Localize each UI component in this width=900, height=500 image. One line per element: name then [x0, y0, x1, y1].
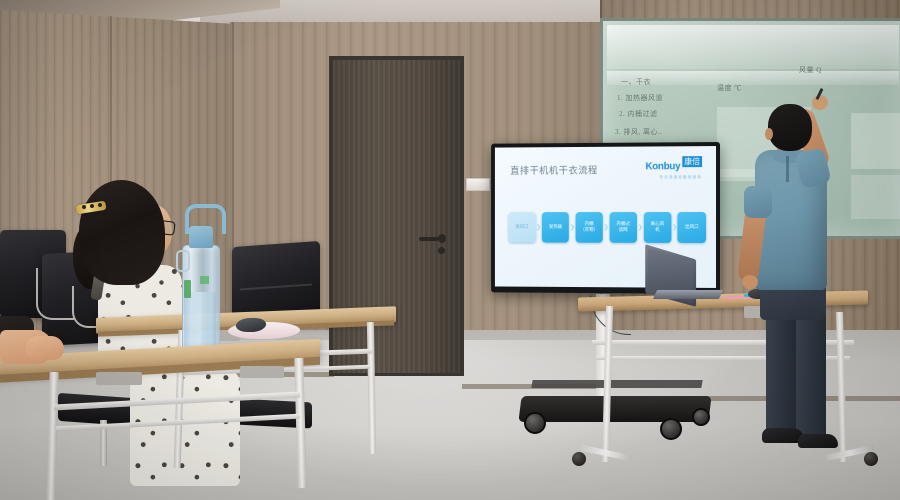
flow-arrow-icon: ❯ [536, 224, 542, 231]
slide-title: 直排干机机干衣流程 [510, 163, 598, 177]
presenter-leg [796, 312, 826, 440]
logo-brand-cn: 康倍 [682, 156, 702, 167]
flow-step-label: 发热器 [549, 225, 562, 231]
presenter-shirt-placket [786, 156, 789, 182]
table-bracket [240, 366, 284, 378]
door-handle-icon[interactable] [419, 237, 439, 241]
flow-step-label: 离心风 机 [651, 222, 665, 233]
whiteboard-ink-line: 3. 排风, 离心.. [615, 127, 663, 137]
tv-stand-caster [524, 412, 546, 434]
door-lock-icon[interactable] [438, 247, 445, 254]
water-bottle-label [184, 280, 191, 298]
water-bottle-label [200, 276, 209, 284]
whiteboard-reflection [851, 175, 900, 219]
flow-arrow-icon: ❯ [637, 224, 643, 231]
flow-step-label: 内桶 （衣物） [580, 222, 598, 233]
whiteboard-ink-line: 温度 ℃ [717, 83, 742, 93]
flow-arrow-icon: ❯ [603, 224, 609, 231]
presenter-leg [766, 312, 796, 436]
attendee-hair [79, 180, 165, 285]
logo-tagline: 专业洗涤设备制造商 [645, 175, 702, 180]
presenter-ear [765, 128, 773, 140]
flow-step-2: 发热器 [542, 212, 569, 243]
presenter-shoe [798, 434, 838, 448]
whiteboard-ink-line: 1. 加热器风道 [617, 93, 663, 103]
tv-stand-caster [660, 418, 682, 440]
water-bottle-clip [176, 250, 190, 272]
table-bracket [96, 372, 142, 385]
presenter-table-caster [864, 452, 878, 466]
light-switch-plate[interactable] [466, 178, 490, 191]
whiteboard-ink-line: 2. 内桶过滤 [619, 109, 658, 119]
flow-arrow-icon: ❯ [569, 224, 575, 231]
laptop-base[interactable] [653, 290, 723, 299]
whiteboard-ink-line: 一、干衣 [621, 77, 651, 87]
whiteboard-reflection [851, 113, 900, 169]
water-bottle-handle[interactable] [185, 204, 226, 234]
tv-stand-base [518, 396, 711, 422]
hair-clip-dot [90, 204, 94, 208]
flow-step-4: 内桶过 滤网 [609, 212, 637, 243]
foreground-attendee-hand [26, 336, 64, 360]
tv-stand-crossbar [531, 380, 702, 388]
attendee-lap [130, 368, 240, 486]
presenter-left-hand [742, 275, 758, 289]
presenter-left-sleeve [744, 186, 772, 218]
presenter-table-caster [572, 452, 586, 466]
hair-clip-dot [98, 203, 102, 207]
logo-brand-text: Konbuy [645, 161, 680, 172]
presenter-head [768, 104, 812, 151]
whiteboard-ink-line: 风量 Q [799, 65, 822, 75]
flow-step-label: 内桶过 滤网 [616, 222, 629, 233]
flow-step-label: 出风口 [685, 225, 699, 231]
flow-step-3: 内桶 （衣物） [575, 212, 603, 243]
flow-step-label: 进风口 [515, 224, 528, 230]
chair-armrest [36, 268, 74, 320]
process-flow-diagram: 进风口❯发热器❯内桶 （衣物）❯内桶过 滤网❯离心风 机❯出风口 [508, 212, 706, 243]
whiteboard-glare [607, 25, 899, 69]
flow-step-1: 进风口 [508, 212, 535, 242]
door-knob-icon[interactable] [438, 234, 446, 243]
tv-stand-caster [692, 408, 710, 426]
meeting-room-photo: 一、干衣 1. 加热器风道 2. 内桶过滤 3. 排风, 离心.. 温度 ℃ 风… [0, 0, 900, 500]
flow-step-5: 离心风 机 [643, 212, 671, 243]
brand-logo: Konbuy康倍 专业洗涤设备制造商 [645, 156, 702, 180]
hair-clip-dot [82, 205, 86, 209]
flow-step-6: 出风口 [678, 212, 706, 243]
